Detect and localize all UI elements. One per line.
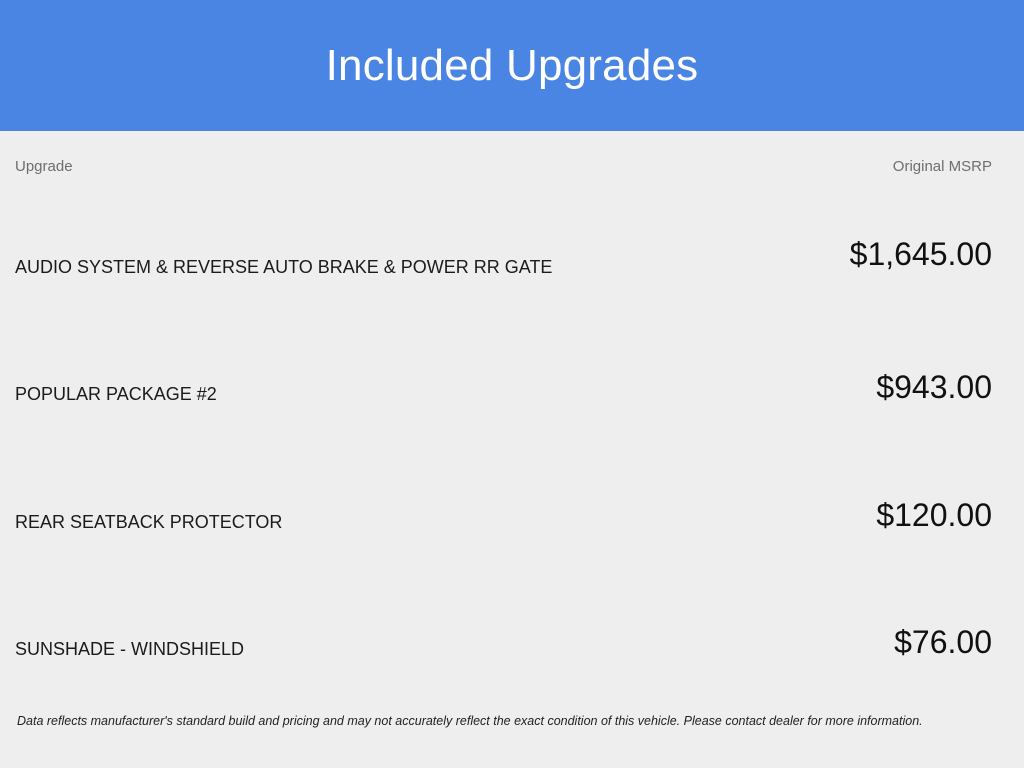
- table-column-headers: Upgrade Original MSRP: [15, 131, 992, 203]
- table-row: AUDIO SYSTEM & REVERSE AUTO BRAKE & POWE…: [15, 203, 992, 331]
- upgrade-price: $1,645.00: [850, 238, 992, 270]
- table-row: POPULAR PACKAGE #2 $943.00: [15, 331, 992, 459]
- table-row: SUNSHADE - WINDSHIELD $76.00: [15, 586, 992, 714]
- page-header-banner: Included Upgrades: [0, 0, 1024, 131]
- table-body: AUDIO SYSTEM & REVERSE AUTO BRAKE & POWE…: [15, 203, 992, 713]
- page-title: Included Upgrades: [326, 44, 699, 88]
- column-header-upgrade: Upgrade: [15, 158, 73, 176]
- included-upgrades-page: Included Upgrades Upgrade Original MSRP …: [0, 0, 1024, 768]
- upgrade-name: AUDIO SYSTEM & REVERSE AUTO BRAKE & POWE…: [15, 255, 552, 279]
- disclaimer-text: Data reflects manufacturer's standard bu…: [17, 713, 1009, 730]
- upgrade-price: $120.00: [876, 499, 992, 531]
- upgrades-table: Upgrade Original MSRP AUDIO SYSTEM & REV…: [0, 131, 1024, 713]
- column-header-original-msrp: Original MSRP: [893, 158, 992, 176]
- upgrade-name: REAR SEATBACK PROTECTOR: [15, 510, 282, 534]
- upgrade-price: $943.00: [876, 371, 992, 403]
- upgrade-name: POPULAR PACKAGE #2: [15, 382, 217, 406]
- upgrade-price: $76.00: [894, 626, 992, 658]
- table-row: REAR SEATBACK PROTECTOR $120.00: [15, 458, 992, 586]
- upgrade-name: SUNSHADE - WINDSHIELD: [15, 637, 244, 661]
- footer: Data reflects manufacturer's standard bu…: [0, 713, 1024, 768]
